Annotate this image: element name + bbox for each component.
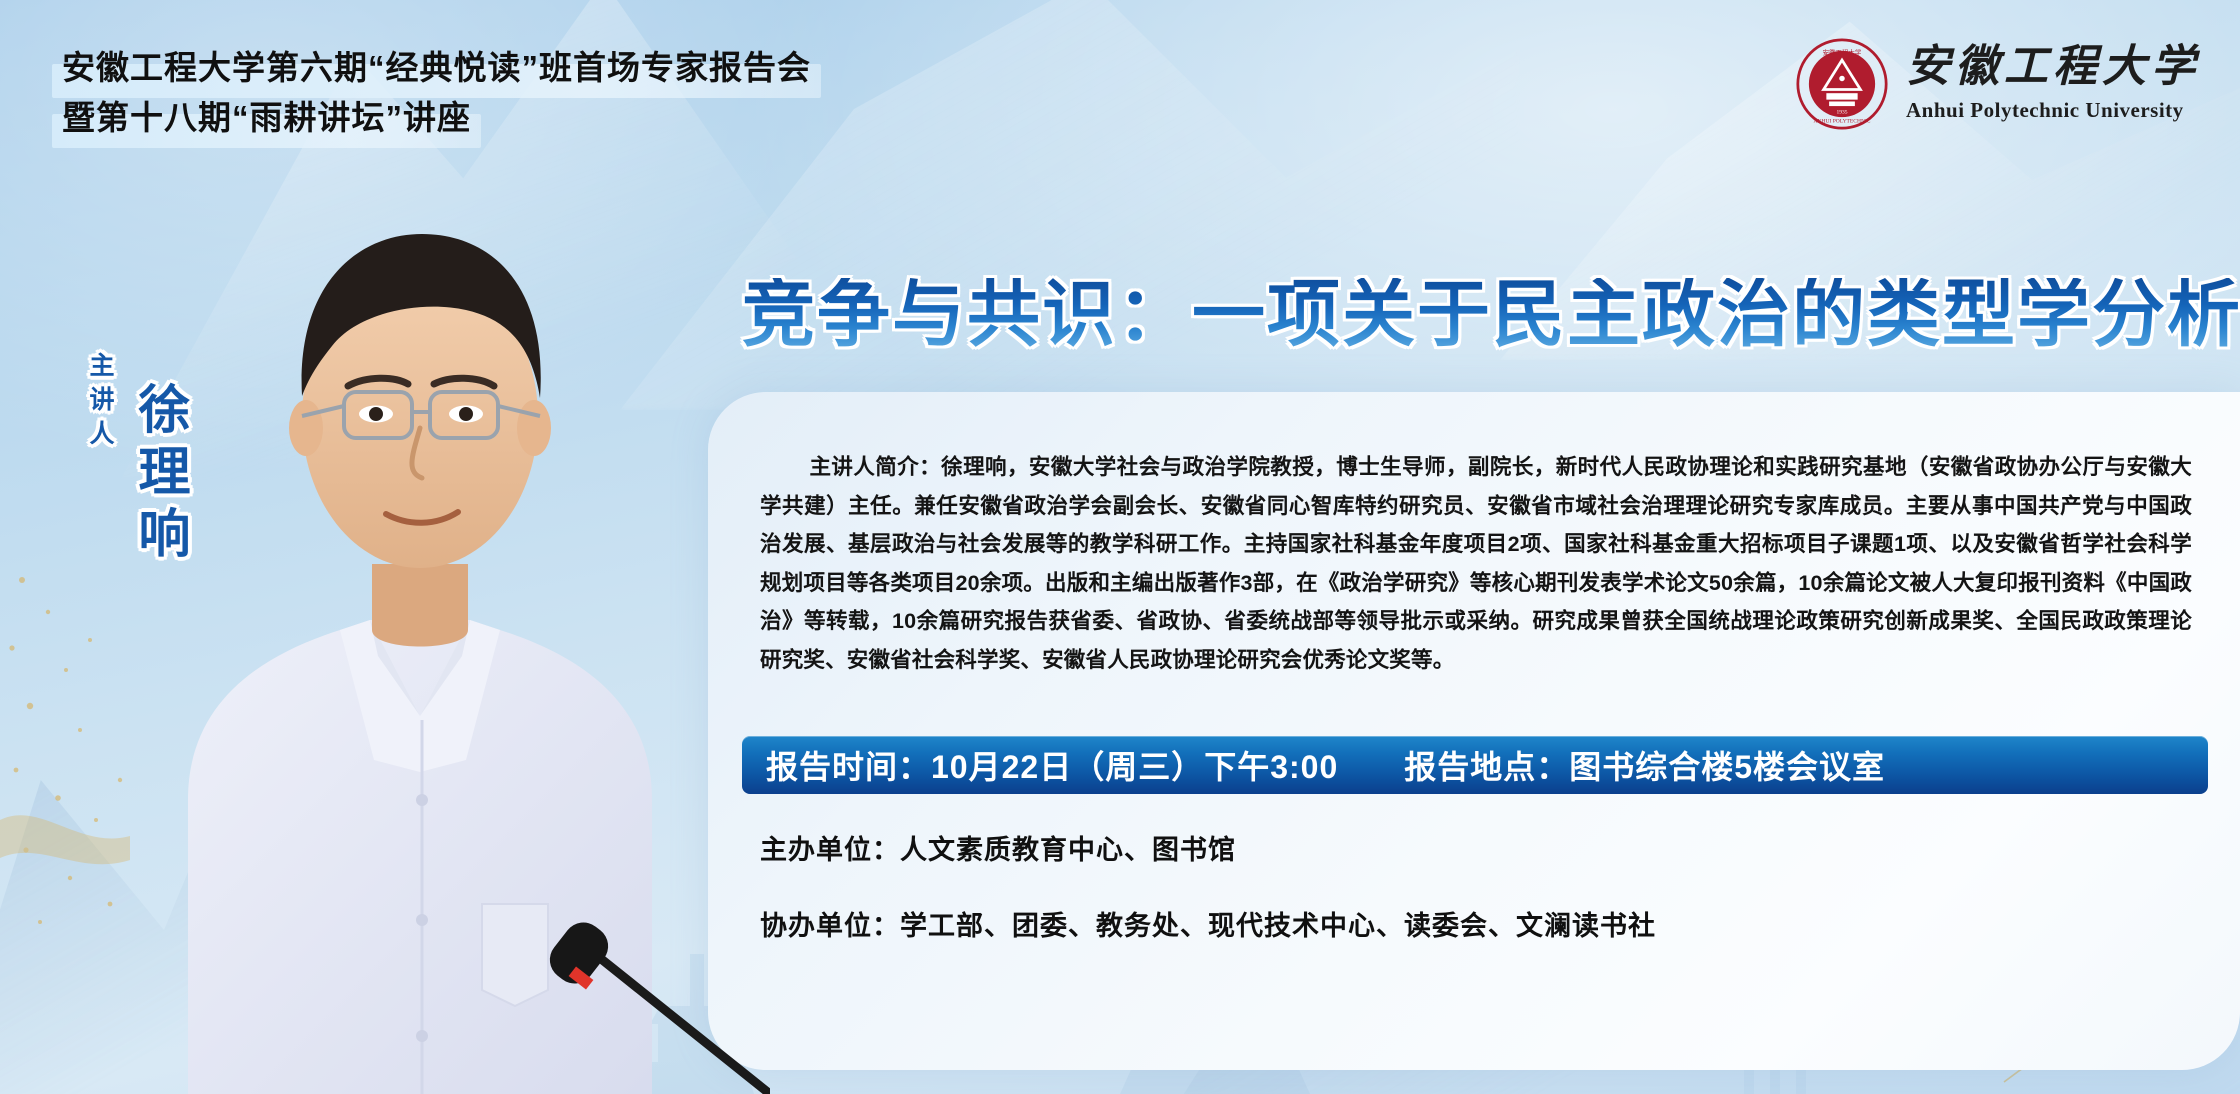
event-info-bar: 报告时间：10月22日（周三）下午3:00 报告地点：图书综合楼5楼会议室 — [742, 736, 2208, 794]
university-name-block: 安徽工程大学 Anhui Polytechnic University — [1906, 45, 2200, 123]
co-host-organizer: 协办单位：学工部、团委、教务处、现代技术中心、读委会、文澜读书社 — [760, 904, 1656, 943]
speaker-name-label: 徐理响 — [122, 382, 197, 568]
svg-text:ANHUI POLYTECHNIC: ANHUI POLYTECHNIC — [1814, 119, 1871, 125]
host-organizer: 主办单位：人文素质教育中心、图书馆 — [760, 828, 1236, 867]
speaker-bio-text: 主讲人简介：徐理响，安徽大学社会与政治学院教授，博士生导师，副院长，新时代人民政… — [760, 448, 2192, 679]
university-name-en: Anhui Polytechnic University — [1906, 98, 2200, 123]
svg-text:1935: 1935 — [1836, 109, 1847, 115]
header-line-2: 暨第十八期“雨耕讲坛”讲座 — [52, 92, 481, 148]
svg-text:安徽工程大学: 安徽工程大学 — [1823, 48, 1862, 57]
university-seal-icon: 安徽工程大学 ANHUI POLYTECHNIC 1935 — [1796, 38, 1888, 130]
event-time: 报告时间：10月22日（周三）下午3:00 — [742, 736, 1338, 794]
speaker-photo — [70, 160, 770, 1094]
speaker-role-label: 主讲人 — [82, 352, 118, 454]
university-logo: 安徽工程大学 ANHUI POLYTECHNIC 1935 安徽工程大学 Anh… — [1796, 38, 2200, 130]
header-line-1: 安徽工程大学第六期“经典悦读”班首场专家报告会 — [52, 42, 821, 98]
header-line-1-wrap: 安徽工程大学第六期“经典悦读”班首场专家报告会 — [52, 42, 821, 98]
poster-canvas: 安徽工程大学第六期“经典悦读”班首场专家报告会 暨第十八期“雨耕讲坛”讲座 安徽… — [0, 0, 2240, 1094]
header-line-2-wrap: 暨第十八期“雨耕讲坛”讲座 — [52, 92, 481, 148]
main-title: 竞争与共识：一项关于民主政治的类型学分析 — [742, 278, 2240, 351]
university-name-cn: 安徽工程大学 — [1906, 45, 2200, 89]
event-location: 报告地点：图书综合楼5楼会议室 — [1338, 736, 1885, 794]
